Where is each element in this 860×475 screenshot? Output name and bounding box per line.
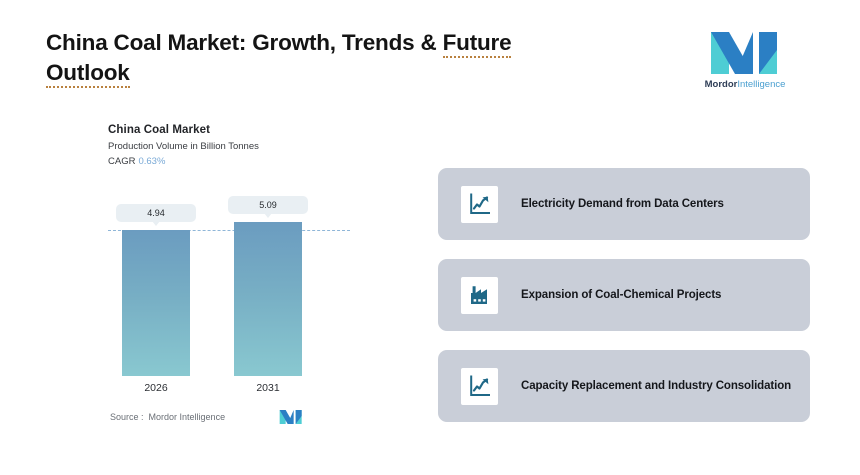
bar-chart-plot: 4.94 2026 5.09 2031 [108, 196, 338, 376]
source-row: Source : Mordor Intelligence [110, 409, 330, 425]
card-label: Capacity Replacement and Industry Consol… [521, 379, 791, 394]
card-icon-frame [461, 277, 498, 314]
driver-cards-list: Electricity Demand from Data Centers Exp… [438, 168, 810, 441]
card-icon-frame [461, 368, 498, 405]
x-axis-label-2026: 2026 [116, 382, 196, 394]
chart-header: China Coal Market Production Volume in B… [108, 124, 408, 167]
brand-wordmark: MordorIntelligence [697, 79, 793, 90]
bar-value-label: 5.09 [228, 196, 308, 214]
source-label: Source : [110, 412, 144, 422]
mordor-m-logo-icon [709, 30, 781, 76]
factory-icon [468, 283, 492, 307]
driver-card-1[interactable]: Electricity Demand from Data Centers [438, 168, 810, 240]
page-title-plain: China Coal Market: Growth, Trends & [46, 30, 443, 55]
driver-card-3[interactable]: Capacity Replacement and Industry Consol… [438, 350, 810, 422]
cagr-value: 0.63% [138, 156, 165, 167]
bar-group-2026: 4.94 2026 [122, 196, 190, 376]
driver-card-2[interactable]: Expansion of Coal-Chemical Projects [438, 259, 810, 331]
card-label: Electricity Demand from Data Centers [521, 197, 724, 212]
bar-2026[interactable] [122, 230, 190, 376]
bar-group-2031: 5.09 2031 [234, 196, 302, 376]
page-title-marked-future: Future [443, 30, 512, 58]
brand-logo: MordorIntelligence [697, 30, 793, 90]
x-axis-label-2031: 2031 [228, 382, 308, 394]
bar-value-label: 4.94 [116, 204, 196, 222]
chart-title: China Coal Market [108, 124, 408, 136]
mordor-m-logo-icon [279, 409, 303, 425]
cagr-label: CAGR [108, 156, 135, 167]
chart-cagr: CAGR0.63% [108, 156, 408, 167]
page-title: China Coal Market: Growth, Trends & Futu… [46, 28, 646, 88]
page-title-marked-outlook: Outlook [46, 60, 130, 88]
source-name: Mordor Intelligence [149, 412, 226, 422]
card-label: Expansion of Coal-Chemical Projects [521, 288, 721, 303]
bar-2031[interactable] [234, 222, 302, 376]
line-chart-up-icon [468, 374, 492, 398]
card-icon-frame [461, 186, 498, 223]
line-chart-up-icon [468, 192, 492, 216]
brand-word-intelligence: Intelligence [737, 79, 785, 90]
chart-subtitle: Production Volume in Billion Tonnes [108, 141, 408, 152]
brand-word-mordor: Mordor [705, 79, 738, 90]
